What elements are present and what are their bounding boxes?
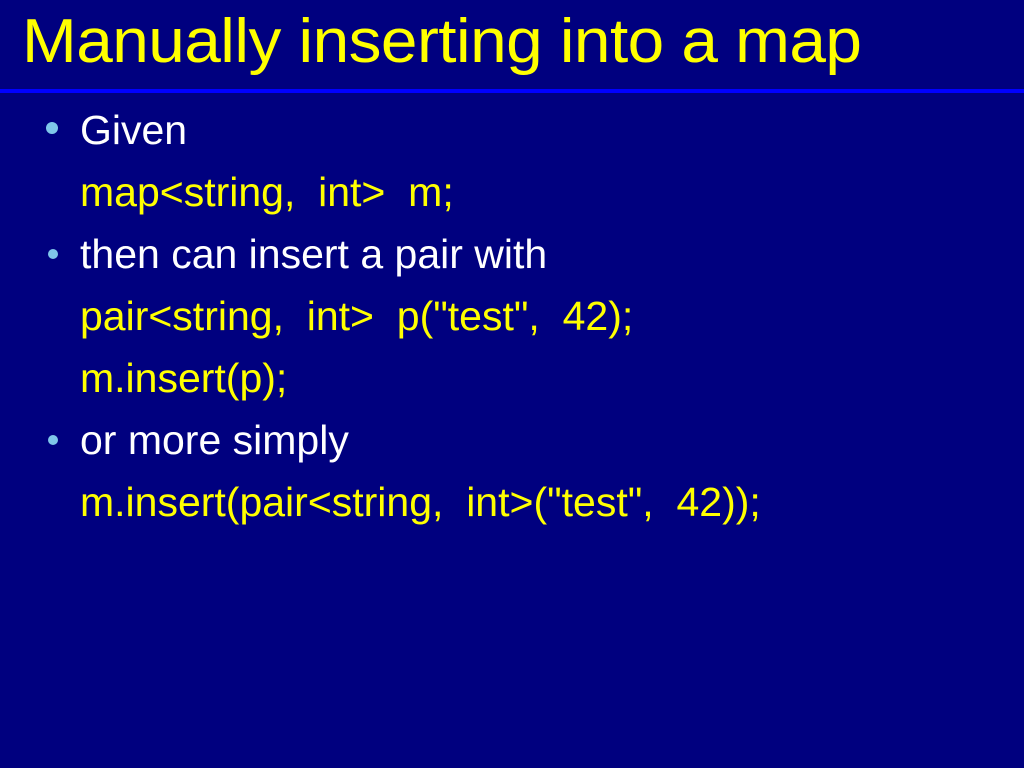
title-area: Manually inserting into a map [0,0,1024,94]
slide: Manually inserting into a map Given map<… [0,0,1024,768]
list-item-label: or more simply [80,410,1024,470]
slide-body: Given map<string, int> m; then can inser… [0,100,1024,760]
code-line: map<string, int> m; [0,162,1024,224]
bullet-group: then can insert a pair with pair<string,… [0,224,1024,410]
list-item: Given [0,100,1024,162]
list-item-label: Given [80,100,1024,160]
bullet-dot-icon [48,249,58,259]
bullet-dot-icon [46,122,58,134]
bullet-group: Given map<string, int> m; [0,100,1024,224]
code-text: m.insert(pair<string, int>("test", 42)); [80,472,1024,532]
bullet-dot-icon [48,435,58,445]
bullet-group: or more simply m.insert(pair<string, int… [0,410,1024,534]
code-text: pair<string, int> p("test", 42); [80,286,1024,346]
code-line: m.insert(p); [0,348,1024,410]
code-text: map<string, int> m; [80,162,1024,222]
title-divider [0,89,1024,93]
page-title: Manually inserting into a map [22,2,1024,82]
list-item: then can insert a pair with [0,224,1024,286]
list-item-label: then can insert a pair with [80,224,1024,284]
code-line: m.insert(pair<string, int>("test", 42)); [0,472,1024,534]
code-line: pair<string, int> p("test", 42); [0,286,1024,348]
list-item: or more simply [0,410,1024,472]
code-text: m.insert(p); [80,348,1024,408]
